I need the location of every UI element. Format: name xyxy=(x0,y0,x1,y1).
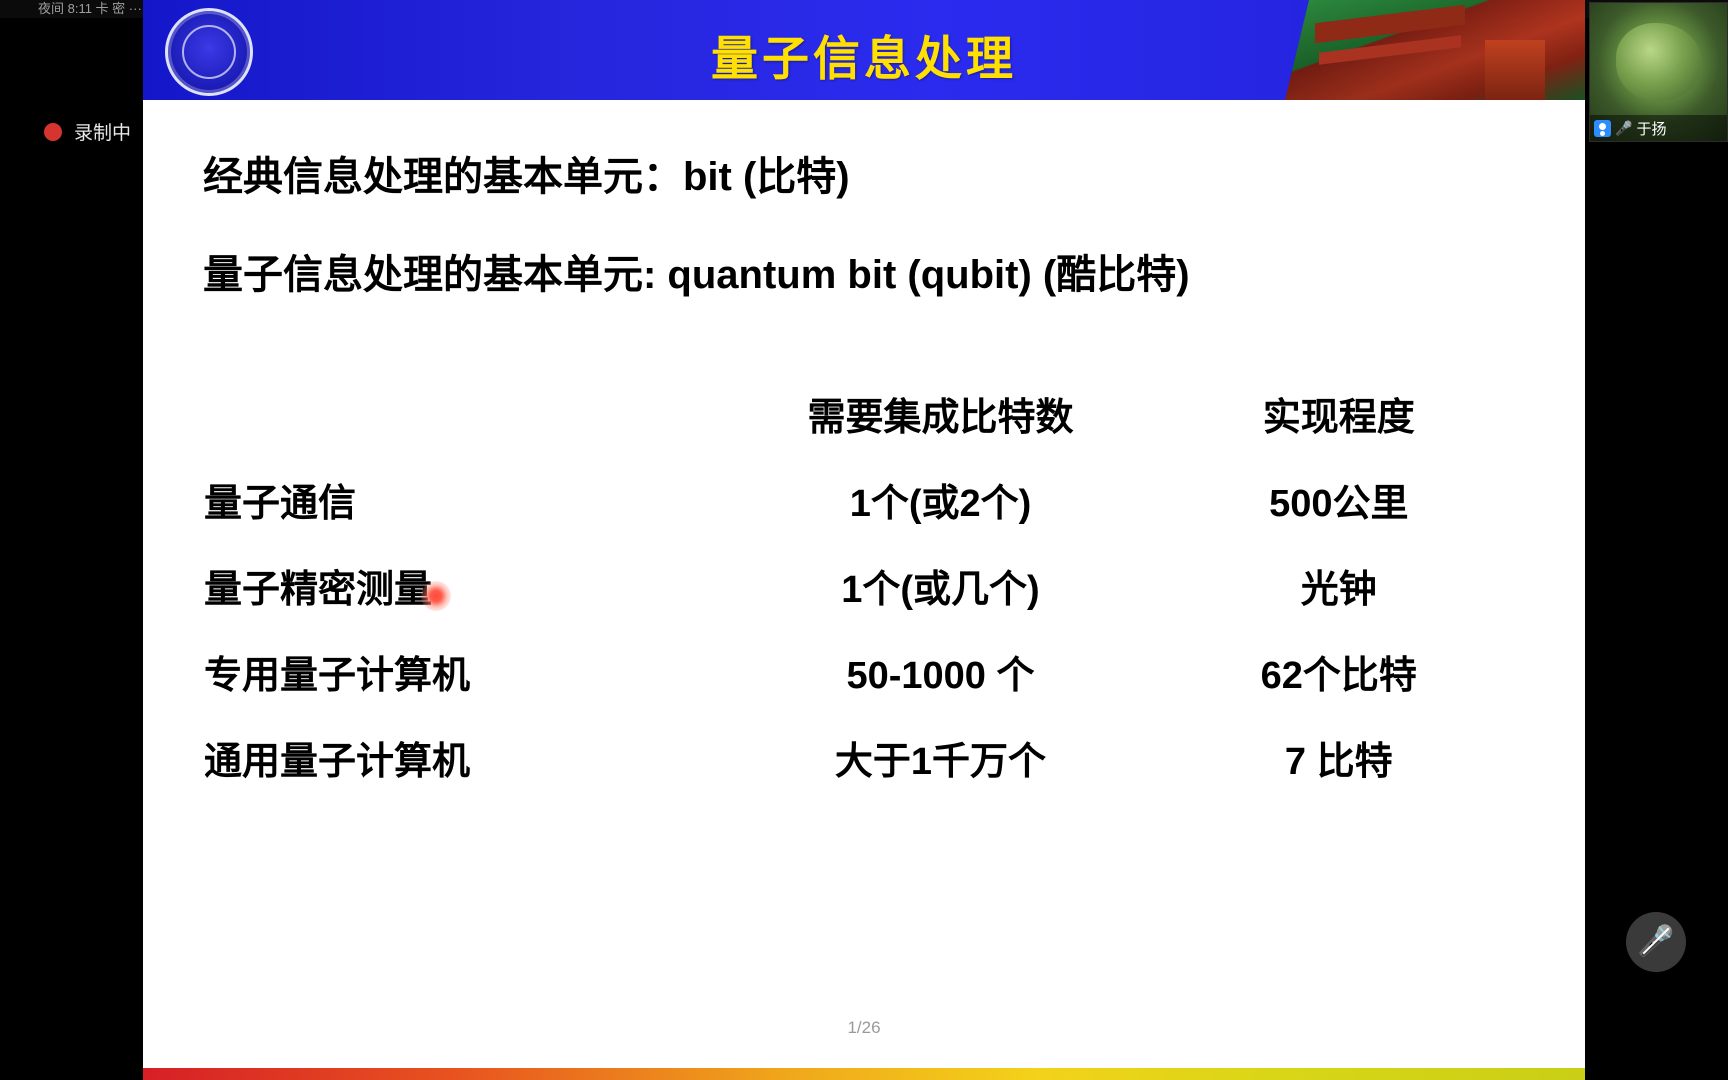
shared-slide: 量子信息处理 经典信息处理的基本单元：bit (比特) 量子信息处理的基本单元:… xyxy=(143,0,1585,1080)
slide-footer-stripe xyxy=(143,1068,1585,1080)
participant-name-bar: 🎤 于扬 xyxy=(1590,115,1727,141)
table-row: 专用量子计算机 50-1000 个 62个比特 xyxy=(198,628,1518,714)
temple-pillar-shape xyxy=(1485,40,1545,100)
table-header-item xyxy=(198,370,721,456)
row-3-item: 通用量子计算机 xyxy=(198,714,721,800)
laser-pointer-icon xyxy=(421,581,451,611)
slide-body: 经典信息处理的基本单元：bit (比特) 量子信息处理的基本单元: quantu… xyxy=(143,100,1585,1060)
row-0-qubits: 1个(或2个) xyxy=(721,456,1159,542)
record-dot-icon xyxy=(44,123,62,141)
row-0-status: 500公里 xyxy=(1160,456,1518,542)
table-header-status: 实现程度 xyxy=(1160,370,1518,456)
slide-line-quantum-bit: 量子信息处理的基本单元: quantum bit (qubit) (酷比特) xyxy=(203,242,1190,300)
temple-roof-shape xyxy=(1315,5,1465,43)
row-3-qubits: 大于1千万个 xyxy=(721,714,1159,800)
row-0-item: 量子通信 xyxy=(198,456,721,542)
recording-indicator[interactable]: 录制中 xyxy=(44,118,131,145)
foliage-shape xyxy=(1616,23,1702,101)
slide-line-classical-bit: 经典信息处理的基本单元：bit (比特) xyxy=(203,144,850,202)
slide-header: 量子信息处理 xyxy=(143,0,1585,100)
table-header-qubits: 需要集成比特数 xyxy=(721,370,1159,456)
person-badge-icon xyxy=(1594,120,1611,137)
table-header-row: 需要集成比特数 实现程度 xyxy=(198,370,1518,456)
slide-page-number: 1/26 xyxy=(143,1018,1585,1038)
row-1-qubits: 1个(或几个) xyxy=(721,542,1159,628)
row-1-item: 量子精密测量 xyxy=(198,542,721,628)
row-3-status: 7 比特 xyxy=(1160,714,1518,800)
row-2-item: 专用量子计算机 xyxy=(198,628,721,714)
participant-video-thumbnail[interactable]: 🎤 于扬 xyxy=(1589,2,1728,142)
table-row: 通用量子计算机 大于1千万个 7 比特 xyxy=(198,714,1518,800)
participant-name: 于扬 xyxy=(1636,118,1666,139)
row-1-status: 光钟 xyxy=(1160,542,1518,628)
row-2-qubits: 50-1000 个 xyxy=(721,628,1159,714)
screen-root: 夜间 8:11 卡 密 ··· 图 宣 53% 2:23 录制中 量子信息处理 … xyxy=(0,0,1728,1080)
row-2-status: 62个比特 xyxy=(1160,628,1518,714)
microphone-muted-icon[interactable]: 🎤 xyxy=(1626,912,1686,972)
comparison-table: 需要集成比特数 实现程度 量子通信 1个(或2个) 500公里 量子精密测量 1… xyxy=(198,370,1518,800)
recording-label: 录制中 xyxy=(74,118,131,145)
microphone-icon: 🎤 xyxy=(1615,121,1632,135)
temple-photo-image xyxy=(1285,0,1585,100)
table-row: 量子通信 1个(或2个) 500公里 xyxy=(198,456,1518,542)
table-row: 量子精密测量 1个(或几个) 光钟 xyxy=(198,542,1518,628)
